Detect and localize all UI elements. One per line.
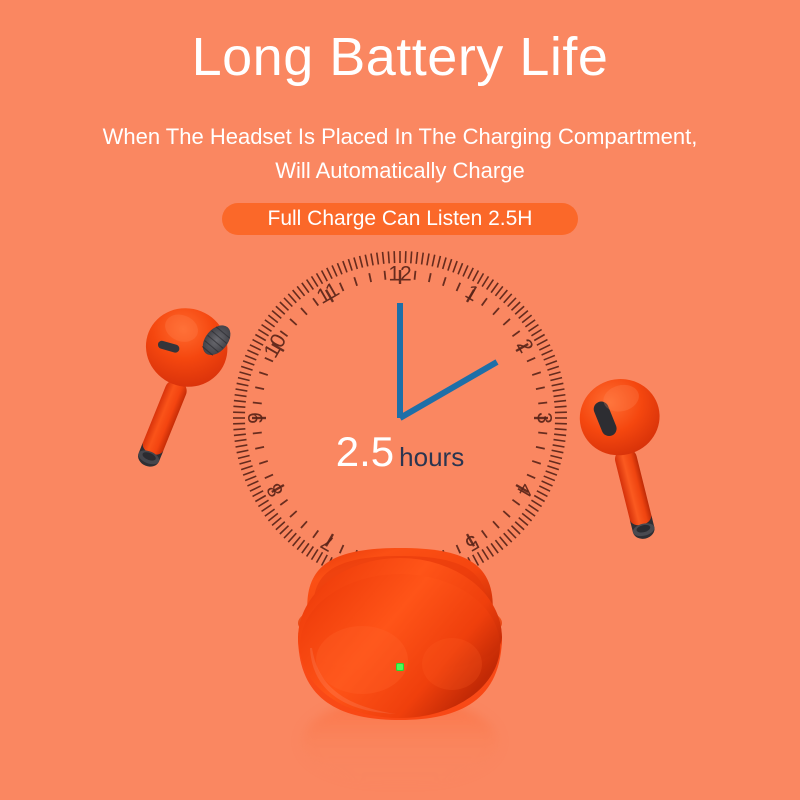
clock-tick [538, 433, 547, 434]
clock-tick [288, 533, 296, 542]
clock-dial: 121234567891011 [233, 251, 567, 585]
clock-tick [525, 320, 535, 327]
clock-tick [547, 366, 558, 370]
clock-tick [544, 355, 555, 360]
clock-tick [554, 401, 566, 402]
clock-numeral-12: 12 [388, 263, 411, 286]
clock-tick [531, 500, 541, 506]
clock-tick [253, 340, 264, 346]
clock-tick [301, 521, 307, 528]
clock-tick [552, 383, 564, 385]
clock-tick [537, 340, 548, 346]
clock-tick [253, 491, 264, 497]
clock-tick [550, 456, 562, 459]
clock-tick [265, 509, 275, 516]
clock-tick [340, 545, 344, 553]
clock-tick [457, 545, 461, 553]
clock-tick [233, 429, 245, 430]
clock-tick [307, 547, 314, 557]
clock-tick [537, 491, 548, 497]
left-earbud [102, 296, 239, 479]
clock-tick [554, 434, 566, 435]
promo-banner: 121234567891011 [0, 0, 800, 800]
clock-tick [255, 335, 265, 341]
clock-tick [268, 513, 277, 520]
clock-tick [235, 395, 247, 397]
clock-tick [365, 255, 367, 267]
clock-tick [265, 320, 275, 327]
clock-tick [422, 253, 424, 265]
clock-tick [301, 308, 307, 315]
clock-tick [236, 389, 248, 391]
clock-tick [239, 372, 251, 375]
clock-tick [522, 315, 531, 322]
clock-numeral-3: 3 [532, 412, 555, 424]
clock-tick [482, 276, 488, 286]
clock-tick [272, 311, 281, 319]
clock-tick [371, 254, 373, 266]
clock-tick [432, 255, 434, 267]
clock-tick [255, 496, 265, 502]
subtitle-line-2: Will Automatically Charge [0, 154, 800, 188]
charging-case [298, 548, 502, 786]
clock-numeral-4: 4 [512, 479, 538, 501]
clock-tick [482, 298, 487, 305]
clock-tick [555, 406, 567, 407]
clock-tick [369, 273, 371, 282]
clock-tick [276, 522, 285, 530]
clock-tick [415, 271, 416, 280]
clock-numeral-2: 2 [512, 335, 538, 357]
clock-tick [547, 466, 558, 470]
clock-tick [236, 445, 248, 447]
clock-tick [555, 429, 567, 430]
clock-tick [544, 476, 555, 481]
clock-tick [527, 358, 535, 362]
clock-tick [280, 526, 289, 534]
clock-tick [457, 283, 461, 291]
clock-tick [327, 268, 332, 279]
right-earbud [572, 371, 689, 548]
clock-tick [255, 447, 264, 449]
clock-tick [468, 268, 473, 279]
clock-tick [332, 265, 337, 276]
clock-tick [443, 277, 446, 286]
clock-tick [549, 461, 561, 464]
clock-tick [245, 355, 256, 360]
clock-tick [312, 276, 318, 286]
clock-tick [284, 530, 292, 539]
clock-tick [427, 254, 429, 266]
clock-tick [539, 486, 550, 491]
clock-tick [238, 456, 250, 459]
clock-tick [247, 350, 258, 355]
clock-tick [280, 500, 287, 505]
clock-tick [546, 471, 557, 475]
clock-tick [354, 277, 357, 286]
clock-tick [495, 286, 502, 295]
clock-tick [553, 445, 565, 447]
clock-tick [241, 366, 252, 370]
clock-tick [500, 290, 508, 299]
clock-tick [443, 257, 446, 269]
clock-tick [238, 378, 250, 381]
clock-tick [503, 319, 510, 325]
clock-tick [527, 475, 535, 479]
clock-tick [512, 526, 521, 534]
clock-tick [302, 283, 309, 293]
clock-tick [542, 350, 553, 355]
clock-tick [259, 461, 268, 464]
clock-tick [348, 259, 352, 270]
clock-tick [529, 325, 539, 332]
clock-tick [482, 549, 488, 559]
clock-tick [234, 401, 246, 402]
clock-tick [552, 450, 564, 452]
clock-tick [245, 476, 256, 481]
clock-tick [536, 387, 545, 389]
clock-tick [500, 537, 508, 546]
clock-tick [317, 552, 323, 562]
clock-tick [322, 271, 328, 282]
clock-tick [478, 273, 484, 283]
clock-tick [268, 315, 277, 322]
clock-tick [519, 311, 528, 319]
clock-tick [313, 530, 318, 537]
clock-tick [312, 549, 318, 559]
clock-tick [546, 361, 557, 365]
subtitle-block: When The Headset Is Placed In The Chargi… [0, 120, 800, 188]
clock-tick [549, 372, 561, 375]
clock-tick [383, 252, 384, 264]
clock-numeral-5: 5 [461, 530, 483, 556]
clock-tick [508, 298, 516, 307]
clock-tick [453, 261, 457, 272]
clock-tick [538, 403, 547, 404]
clock-tick [478, 552, 484, 562]
clock-numeral-8: 8 [262, 479, 288, 501]
clock-tick [313, 298, 318, 305]
battery-claim-badge: Full Charge Can Listen 2.5H [222, 203, 578, 235]
clock-tick [493, 308, 499, 315]
clock-tick [512, 500, 519, 505]
clock-tick [297, 286, 304, 295]
clock-tick [340, 283, 344, 291]
clock-tick [253, 433, 262, 434]
clock-tick [487, 547, 494, 557]
clock-tick [258, 330, 268, 336]
clock-tick [531, 330, 541, 336]
clock-tick [458, 263, 463, 274]
clock-tick [482, 530, 487, 537]
clock-tick [293, 537, 301, 546]
clock-tick [525, 509, 535, 516]
clock-tick [354, 257, 357, 269]
clock-numeral-1: 1 [461, 280, 483, 306]
clock-tick [532, 461, 541, 464]
clock-tick [259, 372, 268, 375]
clock-tick [297, 540, 304, 549]
clock-tick [536, 447, 545, 449]
clock-tick [234, 434, 246, 435]
clock-tick [487, 280, 494, 290]
clock-tick [416, 252, 417, 264]
clock-tick [512, 302, 521, 310]
clock-tick [243, 471, 254, 475]
clock-tick [529, 505, 539, 512]
clock-tick [550, 378, 562, 381]
clock-tick [515, 522, 524, 530]
clock-tick [241, 466, 252, 470]
clock-tick [258, 500, 268, 506]
clock-tick [280, 302, 289, 310]
clock-tick [250, 486, 261, 491]
page-title: Long Battery Life [0, 28, 800, 87]
clock-tick [512, 331, 519, 336]
clock-tick [290, 319, 297, 325]
clock-tick [519, 518, 528, 526]
clock-tick [491, 283, 498, 293]
clock-tick [503, 511, 510, 517]
clock-tick [504, 533, 512, 542]
clock-tick [491, 543, 498, 553]
clock-tick [508, 530, 516, 539]
clock-tick [463, 265, 468, 276]
clock-tick [280, 331, 287, 336]
clock-tick [237, 450, 249, 452]
clock-tick [448, 259, 452, 270]
subtitle-line-1: When The Headset Is Placed In The Chargi… [0, 120, 800, 154]
clock-tick [534, 496, 544, 502]
clock-tick [265, 475, 273, 479]
clock-tick [532, 372, 541, 375]
clock-tick [276, 306, 285, 314]
clock-tick [515, 306, 524, 314]
clock-numeral-9: 9 [245, 412, 268, 424]
clock-tick [293, 290, 301, 299]
clock-tick [243, 361, 254, 365]
clock-tick [302, 543, 309, 553]
clock-tick [290, 511, 297, 517]
clock-tick [337, 263, 342, 274]
clock-tick [233, 406, 245, 407]
clock-hour-hand [400, 362, 497, 418]
clock-tick [262, 505, 272, 512]
clock-tick [385, 271, 386, 280]
clock-tick [539, 345, 550, 350]
clock-tick [553, 389, 565, 391]
clock-tick [288, 294, 296, 303]
clock-tick [235, 440, 247, 442]
clock-tick [343, 261, 347, 272]
clock-tick [272, 518, 281, 526]
clock-tick [360, 256, 363, 268]
clock-tick [247, 481, 258, 486]
clock-tick [253, 403, 262, 404]
clock-tick [542, 481, 553, 486]
clock-tick [317, 273, 323, 283]
clock-tick [534, 335, 544, 341]
clock-tick [237, 383, 249, 385]
clock-tick [553, 440, 565, 442]
clock-tick [429, 273, 431, 282]
clock-tick [438, 256, 441, 268]
clock-tick [553, 395, 565, 397]
clock-tick [239, 461, 251, 464]
clock-numeral-7: 7 [317, 530, 339, 556]
clock-tick [284, 298, 292, 307]
clock-tick [377, 253, 379, 265]
clock-tick [504, 294, 512, 303]
clock-tick [255, 387, 264, 389]
clock-tick [473, 271, 479, 282]
clock-tick [493, 521, 499, 528]
clock-tick [522, 513, 531, 520]
clock-tick [495, 540, 502, 549]
